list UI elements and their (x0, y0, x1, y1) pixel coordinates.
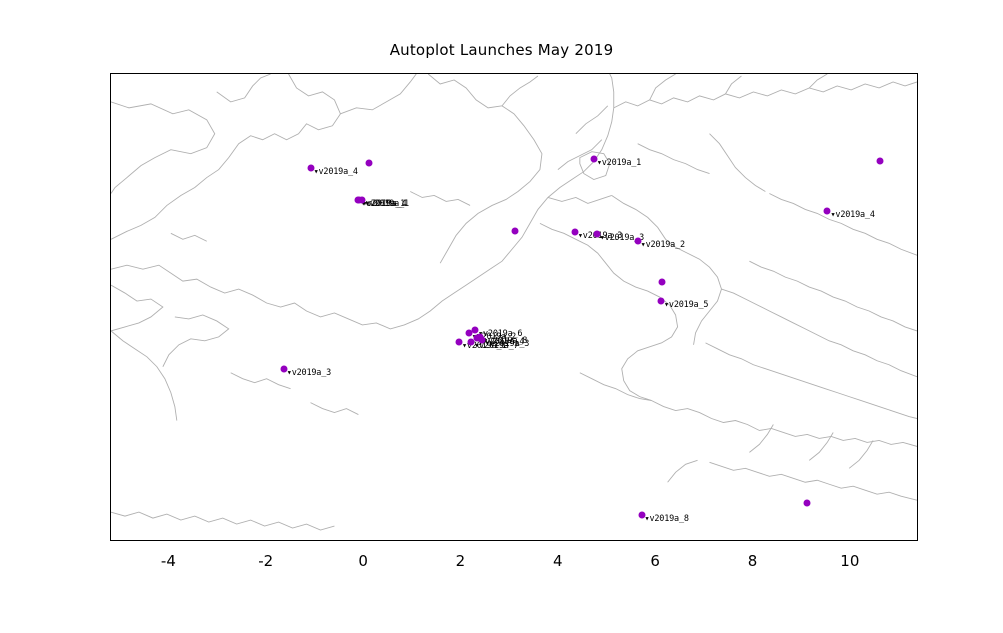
x-axis-tick-minor (121, 540, 122, 541)
x-axis-tick (754, 540, 755, 541)
x-axis-label: 8 (723, 552, 783, 570)
x-axis-tick (559, 540, 560, 541)
data-point[interactable] (512, 227, 519, 234)
data-point-label: ▾v2019a_1 (365, 199, 409, 209)
y-axis-tick (110, 74, 111, 75)
x-axis-tick (461, 540, 462, 541)
x-axis-tick (364, 540, 365, 541)
x-axis-tick-minor (900, 540, 901, 541)
data-point-label: ▾v2019a_4 (314, 167, 358, 177)
data-point-label: ▾v2019a_8 (645, 514, 689, 524)
x-axis-label: 0 (333, 552, 393, 570)
figure-canvas: Autoplot Launches May 2019 (0, 0, 1003, 633)
plot-area: ▾v2019a_4▾v2019a_1▾v2019a_4▾v2019a_1▾v20… (110, 73, 918, 541)
y-axis-tick-minor (110, 423, 111, 424)
data-point-label: ▾v2019a_2 (641, 240, 685, 250)
data-point-label: ▾v2019a_1 (597, 158, 641, 168)
data-point-label: ▾v2019a_4 (830, 210, 874, 220)
data-point[interactable] (365, 159, 372, 166)
data-point[interactable] (877, 158, 884, 165)
y-axis-tick-minor (110, 124, 111, 125)
x-axis-tick (169, 540, 170, 541)
data-point[interactable] (658, 279, 665, 286)
x-axis-tick (267, 540, 268, 541)
x-axis-tick-minor (315, 540, 316, 541)
x-axis-label: -4 (138, 552, 198, 570)
y-axis-tick-minor (110, 223, 111, 224)
x-axis-label: -2 (236, 552, 296, 570)
x-axis-tick-minor (413, 540, 414, 541)
x-axis-tick-minor (510, 540, 511, 541)
x-axis-label: 2 (430, 552, 490, 570)
data-point-label: ▾v2019a_5 (664, 300, 708, 310)
y-axis-tick (110, 373, 111, 374)
coastline-map (111, 74, 917, 540)
data-point-label: ▾v2019a_3 (485, 339, 529, 349)
data-point-label: ▾v2019a_3 (287, 368, 331, 378)
x-axis-label: 6 (625, 552, 685, 570)
x-axis-tick-minor (705, 540, 706, 541)
x-axis-tick (851, 540, 852, 541)
x-axis-label: 10 (820, 552, 880, 570)
y-axis-tick (110, 472, 111, 473)
data-point[interactable] (804, 500, 811, 507)
x-axis-tick-minor (218, 540, 219, 541)
x-axis-tick-minor (607, 540, 608, 541)
y-axis-tick (110, 174, 111, 175)
page-title: Autoplot Launches May 2019 (0, 41, 1003, 59)
y-axis-tick-minor (110, 522, 111, 523)
x-axis-tick-minor (802, 540, 803, 541)
y-axis-tick-minor (110, 323, 111, 324)
x-axis-tick (656, 540, 657, 541)
y-axis-tick (110, 273, 111, 274)
x-axis-label: 4 (528, 552, 588, 570)
